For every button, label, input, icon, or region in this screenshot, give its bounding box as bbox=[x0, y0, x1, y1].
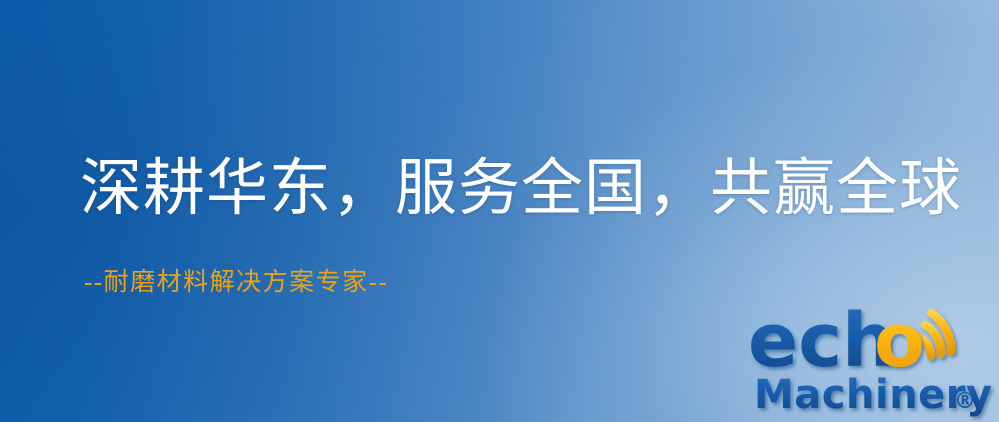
banner-headline: 深耕华东，服务全国，共赢全球 bbox=[80, 150, 950, 228]
banner-subtitle: --耐磨材料解决方案专家-- bbox=[84, 266, 388, 300]
logo-registered-mark: ® bbox=[954, 389, 976, 414]
echo-machinery-logo: ech o Machinery ® bbox=[748, 296, 996, 420]
promo-banner: 深耕华东，服务全国，共赢全球 --耐磨材料解决方案专家-- bbox=[0, 0, 999, 422]
